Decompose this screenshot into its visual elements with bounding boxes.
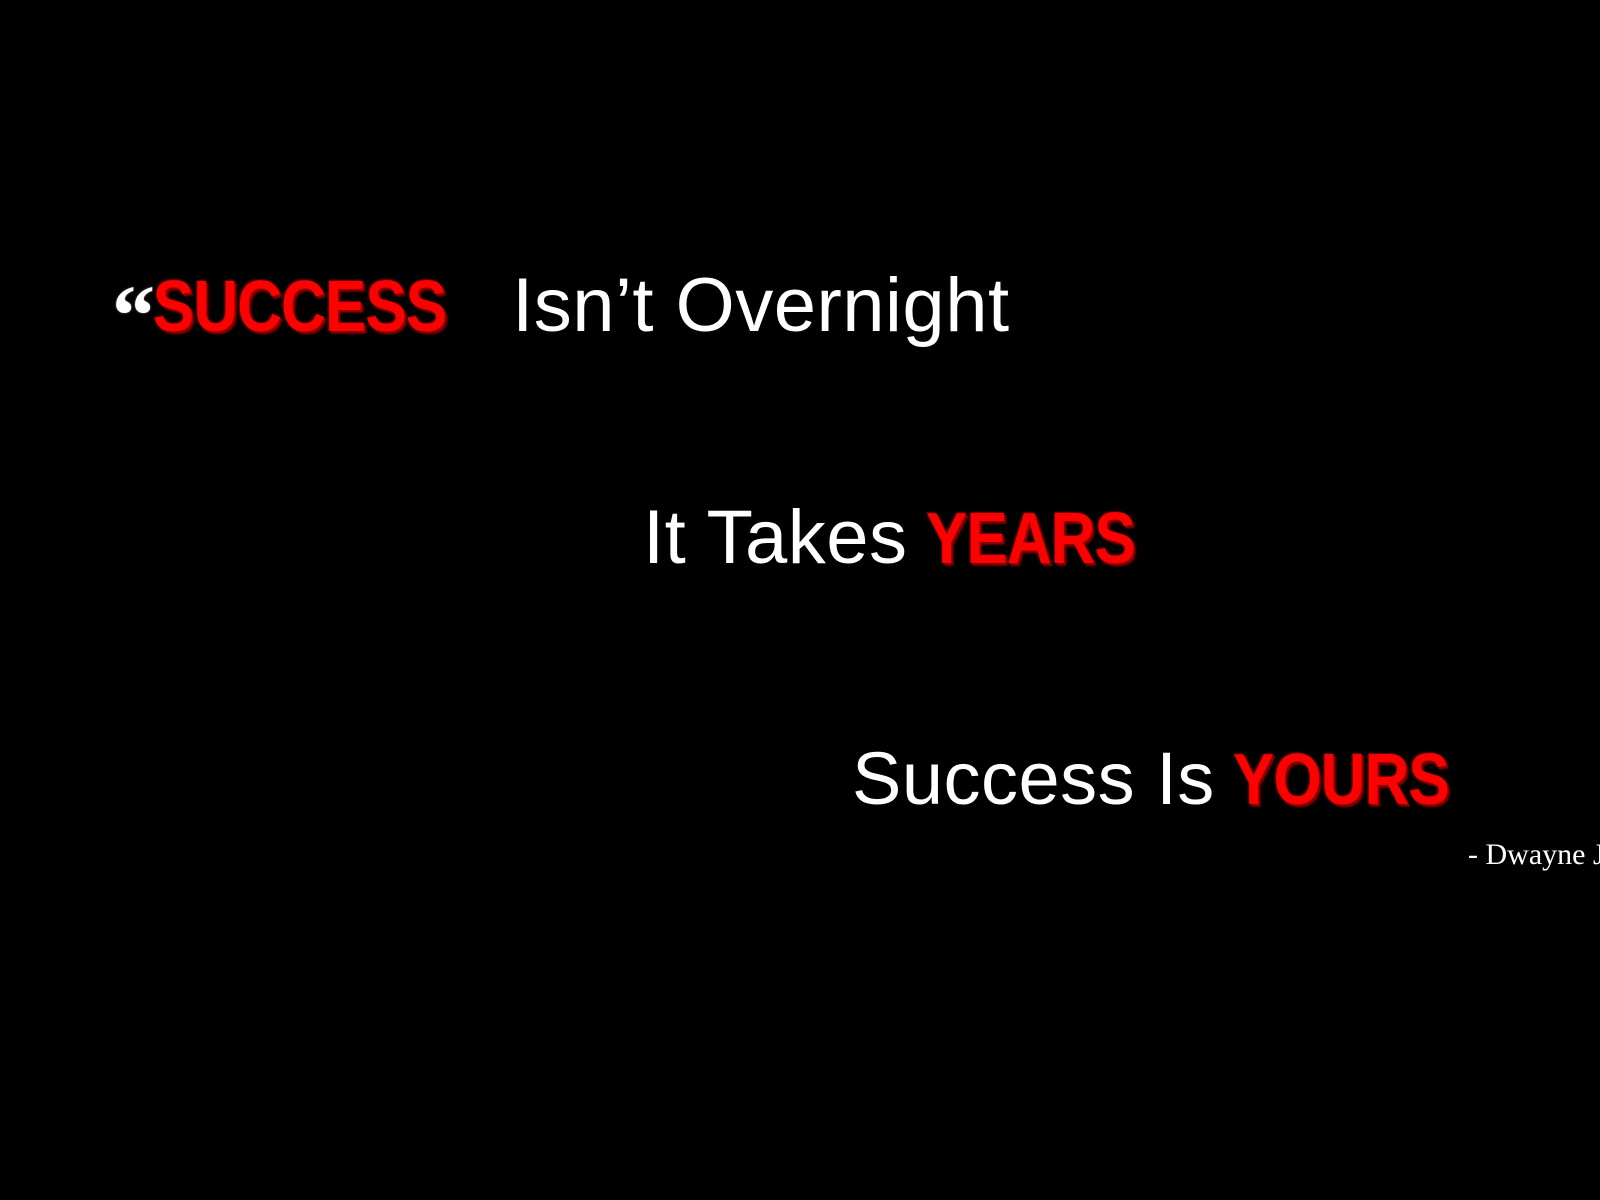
open-quote-mark: “ (112, 267, 153, 363)
quote-line-1: “SUCCESSIsn’t Overnight (112, 268, 1010, 354)
quote-line-2: It TakesYEARS (643, 500, 1169, 576)
quote-line-3-plain: Success Is (852, 737, 1215, 820)
emphasis-word-success: SUCCESS (153, 271, 446, 343)
quote-line-1-plain: Isn’t Overnight (512, 263, 1010, 348)
quote-line-3: Success IsYOURS (852, 742, 1484, 816)
emphasis-word-years: YEARS (926, 503, 1135, 575)
emphasis-word-yours: YOURS (1233, 744, 1449, 816)
wallpaper-canvas: “SUCCESSIsn’t Overnight It TakesYEARS Su… (0, 0, 1600, 1200)
quote-line-2-plain: It Takes (643, 495, 908, 580)
quote-block: “SUCCESSIsn’t Overnight It TakesYEARS Su… (0, 0, 1600, 1200)
quote-attribution: - Dwayne Johnson (1468, 840, 1600, 870)
